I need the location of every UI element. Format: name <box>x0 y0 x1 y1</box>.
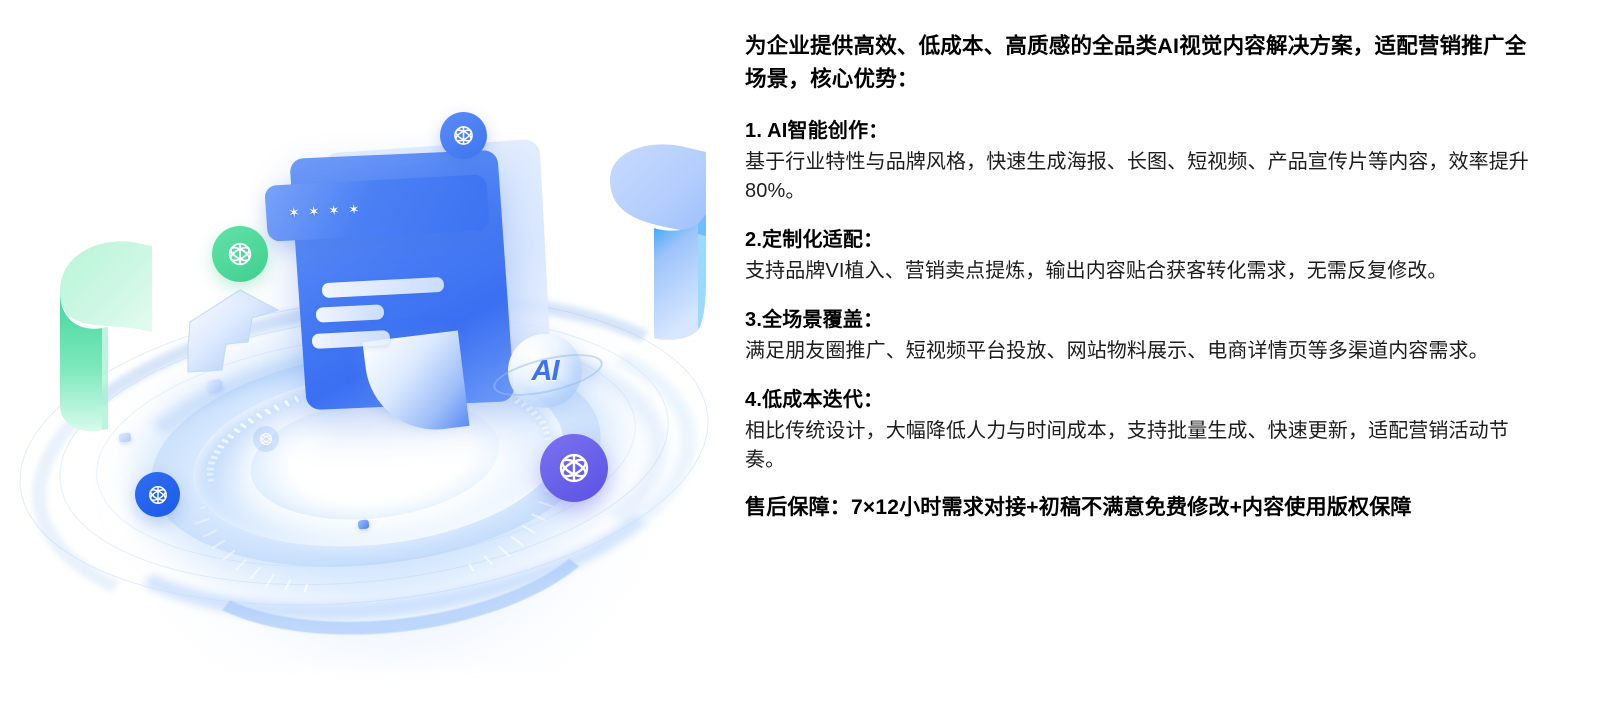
feature-title: 3.全场景覆盖： <box>745 306 1530 335</box>
band-segment <box>235 559 247 571</box>
network-globe-icon <box>146 483 170 507</box>
feature-section: 4.低成本迭代： 相比传统设计，大幅降低人力与时间成本，支持批量生成、快速更新，… <box>745 386 1530 475</box>
network-globe-icon <box>225 239 255 269</box>
led-tick <box>208 462 215 466</box>
blue-ribbon-shape <box>606 140 710 346</box>
led-tick <box>543 431 550 435</box>
led-tick <box>211 456 218 460</box>
feature-title: 4.低成本迭代： <box>745 386 1530 415</box>
badge-network-blue-small <box>135 472 180 517</box>
band-segment <box>249 567 260 580</box>
band-segment <box>222 550 235 561</box>
band-segment <box>522 525 536 534</box>
band-segment <box>265 574 275 588</box>
feature-body: 满足朋友圈推广、短视频平台投放、网站物料展示、电商详情页等多渠道内容需求。 <box>745 337 1530 366</box>
band-segment <box>539 501 554 507</box>
led-tick <box>207 478 214 482</box>
led-tick <box>217 444 225 449</box>
illustration-panel: ✶ ✶ ✶ ✶ AI <box>0 0 735 713</box>
star-icon: ✶ <box>288 205 302 219</box>
badge-network-top <box>440 112 487 159</box>
network-globe-icon <box>555 449 593 487</box>
star-icon: ✶ <box>308 204 322 218</box>
badge-network-green <box>212 226 268 282</box>
platform-chip-2 <box>358 519 370 529</box>
content-panel: 为企业提供高效、低成本、高质感的全品类AI视觉内容解决方案，适配营销推广全场景，… <box>735 0 1600 713</box>
feature-title: 2.定制化适配： <box>745 226 1530 255</box>
ai-sphere-badge: AI <box>508 334 582 408</box>
illustration-stage: ✶ ✶ ✶ ✶ AI <box>0 0 735 713</box>
band-segment <box>211 540 225 550</box>
feature-body: 相比传统设计，大幅降低人力与时间成本，支持批量生成、快速更新，适配营销活动节奏。 <box>745 417 1530 475</box>
band-segment <box>511 536 524 547</box>
network-globe-icon <box>258 431 274 447</box>
star-icon: ✶ <box>348 202 362 216</box>
badge-network-ghost <box>253 426 279 452</box>
led-tick <box>240 423 248 429</box>
band-segment <box>195 518 210 525</box>
band-segment <box>531 513 546 521</box>
feature-section: 1. AI智能创作： 基于行业特性与品牌风格，快速生成海报、长图、短视频、产品宣… <box>745 117 1530 206</box>
led-tick <box>227 433 235 439</box>
led-tick <box>206 473 213 476</box>
feature-body: 支持品牌VI植入、营销卖点提炼，输出内容贴合获客转化需求，无需反复修改。 <box>745 257 1530 286</box>
feature-body: 基于行业特性与品牌风格，快速生成海报、长图、短视频、产品宣传片等内容，效率提升8… <box>745 148 1530 206</box>
led-tick <box>544 436 551 440</box>
page-root: ✶ ✶ ✶ ✶ AI <box>0 0 1600 713</box>
led-tick <box>233 428 241 434</box>
feature-section: 3.全场景覆盖： 满足朋友圈推广、短视频平台投放、网站物料展示、电商详情页等多渠… <box>745 306 1530 366</box>
feature-section: 2.定制化适配： 支持品牌VI植入、营销卖点提炼，输出内容贴合获客转化需求，无需… <box>745 226 1530 286</box>
band-segment <box>202 529 216 537</box>
band-segment <box>498 546 510 558</box>
guarantee-paragraph: 售后保障：7×12小时需求对接+初稿不满意免费修改+内容使用版权保障 <box>745 493 1530 523</box>
document-page-curl <box>363 331 470 438</box>
star-icon: ✶ <box>328 203 342 217</box>
feature-title: 1. AI智能创作： <box>745 117 1530 146</box>
document-rating-bar: ✶ ✶ ✶ ✶ <box>264 174 490 241</box>
led-tick <box>222 439 230 444</box>
badge-network-purple <box>540 434 608 502</box>
led-tick <box>213 450 220 454</box>
green-ribbon-shape <box>58 236 154 436</box>
lede-paragraph: 为企业提供高效、低成本、高质感的全品类AI视觉内容解决方案，适配营销推广全场景，… <box>745 30 1530 95</box>
led-tick <box>207 467 214 470</box>
network-globe-icon <box>451 123 476 148</box>
